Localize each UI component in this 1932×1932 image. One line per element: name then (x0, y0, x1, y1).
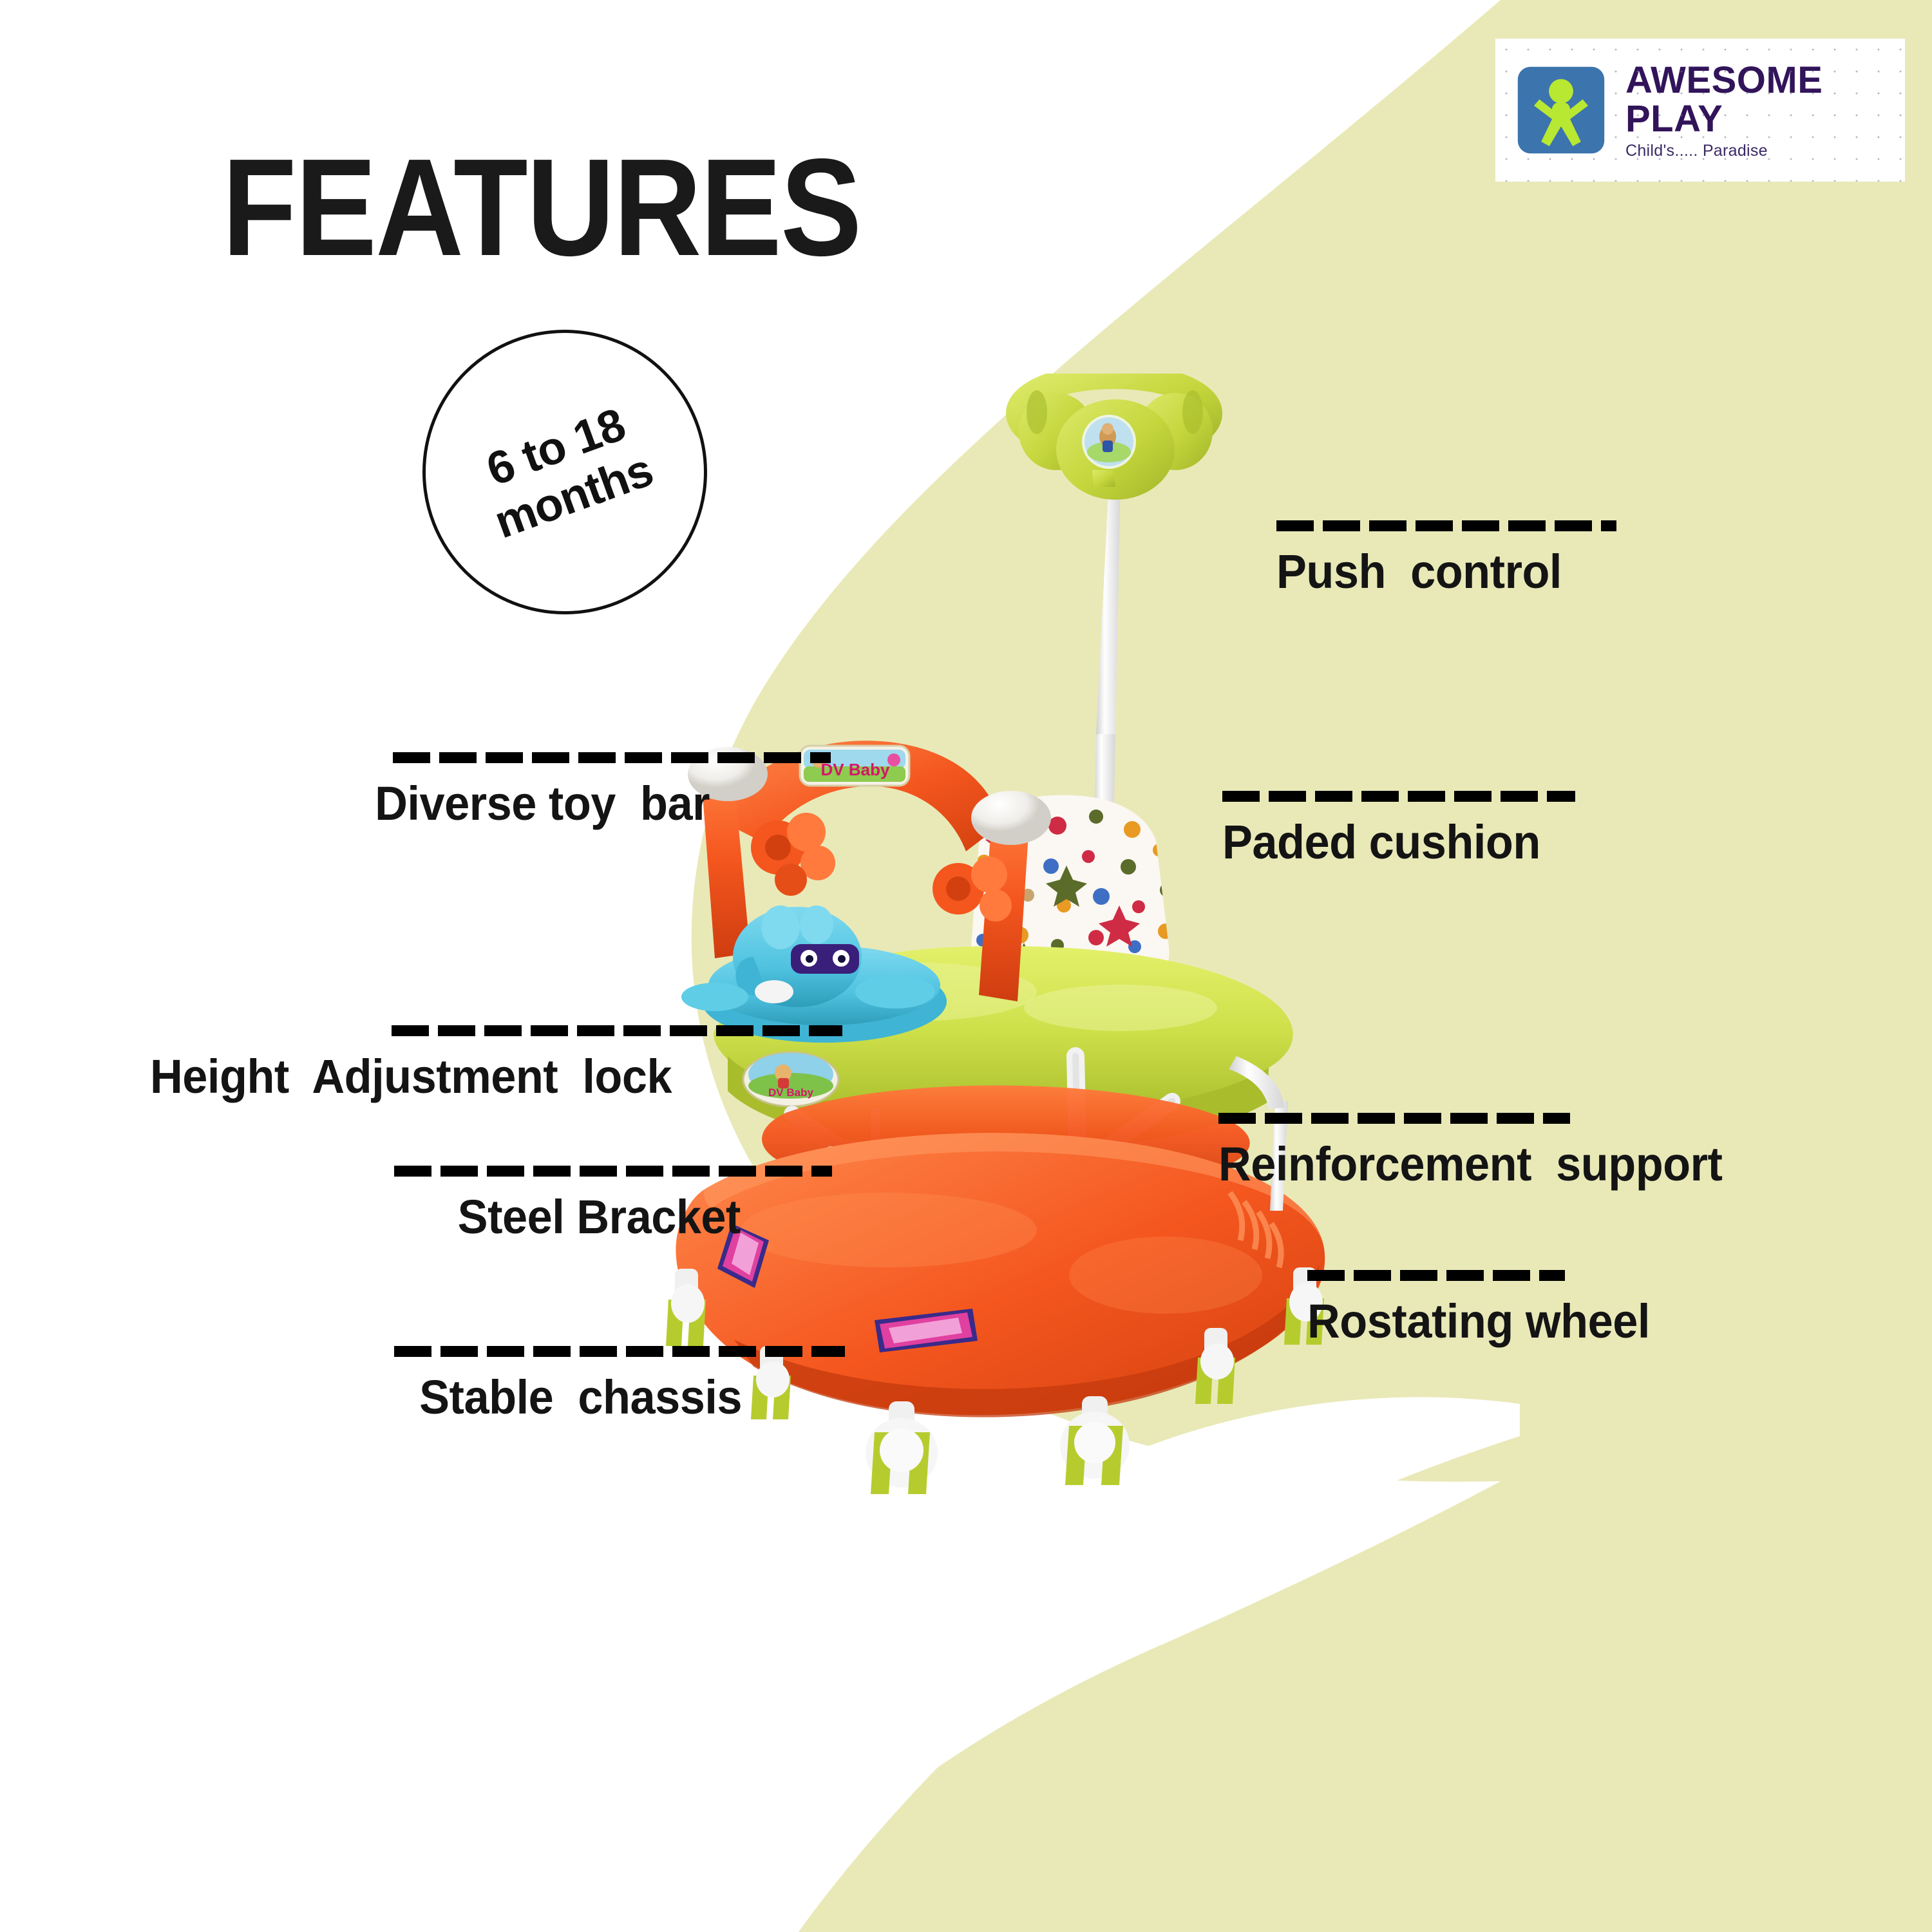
leader-line (393, 752, 831, 763)
brand-wordmark: AWESOME PLAY Child's..... Paradise (1625, 62, 1823, 159)
callout-paded-cushion: Paded cushion (1222, 791, 1575, 866)
leader-line (1307, 1270, 1565, 1281)
page-title: FEATURES (222, 128, 861, 287)
callout-stable-chassis: Stable chassis (394, 1346, 845, 1421)
leader-line (1276, 520, 1616, 531)
brand-logo: AWESOME PLAY Child's..... Paradise (1495, 39, 1905, 182)
brand-name-line2: PLAY (1625, 100, 1823, 138)
callout-reinforcement-support: Reinforcement support (1218, 1113, 1570, 1188)
callout-push-control: Push control (1276, 520, 1616, 596)
callout-label: Stable chassis (314, 1374, 742, 1421)
callout-label: Paded cushion (1222, 819, 1558, 866)
leader-line (1218, 1113, 1570, 1124)
leader-line (394, 1166, 832, 1177)
awesome-play-icon (1516, 65, 1606, 155)
callout-rostating-wheel: Rostating wheel (1307, 1270, 1565, 1345)
callout-label: Steel Bracket (325, 1193, 741, 1241)
push-control-handle (1019, 376, 1213, 500)
leader-line (1222, 791, 1575, 802)
age-range-text: 6 to 18 months (470, 395, 659, 549)
leader-line (392, 1025, 842, 1036)
brand-tagline: Child's..... Paradise (1625, 143, 1823, 159)
callout-height-adjustment-lock: Height Adjustment lock (392, 1025, 842, 1101)
callout-label: Reinforcement support (1218, 1141, 1553, 1188)
toy-rattle-right (933, 857, 1012, 922)
callout-diverse-toy-bar: Diverse toy bar (393, 752, 831, 828)
callout-steel-bracket: Steel Bracket (394, 1166, 832, 1241)
callout-label: Push control (1276, 548, 1600, 596)
svg-text:DV Baby: DV Baby (821, 760, 890, 779)
push-handle-pole (1096, 482, 1121, 734)
callout-label: Diverse toy bar (294, 780, 710, 828)
infographic-canvas: AWESOME PLAY Child's..... Paradise FEATU… (0, 0, 1932, 1932)
toy-knob-right (971, 791, 1051, 845)
callout-label: Height Adjustment lock (150, 1053, 578, 1101)
rotating-wheel (866, 1401, 938, 1494)
age-range-badge: 6 to 18 months (422, 330, 707, 614)
leader-line (394, 1346, 845, 1357)
callout-label: Rostating wheel (1307, 1298, 1552, 1345)
brand-name-line1: AWESOME (1625, 62, 1823, 99)
